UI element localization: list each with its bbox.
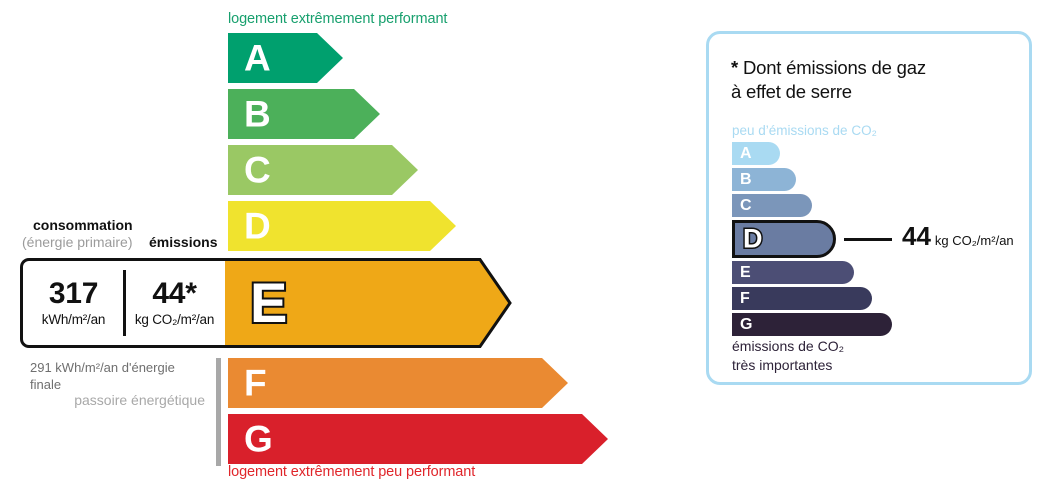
consumption-value-cell: 317 kWh/m²/an bbox=[23, 261, 124, 345]
co2-caption-bottom-line2: très importantes bbox=[732, 356, 844, 375]
label-energie-finale: 291 kWh/m²/an d'énergie finale bbox=[30, 359, 200, 393]
dpe-energy-label: logement extrêmement performant A B C D bbox=[0, 0, 1059, 488]
energy-values-box: 317 kWh/m²/an 44* kg CO₂/m²/an bbox=[20, 258, 225, 348]
co2-title-line2: à effet de serre bbox=[731, 81, 852, 102]
co2-letter-c: C bbox=[740, 198, 752, 214]
label-consommation: consommation bbox=[33, 217, 133, 233]
passoire-divider bbox=[216, 358, 221, 466]
co2-letter-f: F bbox=[740, 291, 750, 307]
emission-unit: kg CO₂/m²/an bbox=[135, 312, 214, 328]
co2-value-unit: kg CO₂/m²/an bbox=[935, 233, 1014, 248]
co2-letter-a: A bbox=[740, 146, 752, 162]
co2-value: 44kg CO₂/m²/an bbox=[902, 223, 1014, 249]
co2-letter-e: E bbox=[740, 265, 751, 281]
energy-row-b: B bbox=[228, 89, 380, 139]
emission-value: 44* bbox=[152, 278, 196, 310]
energy-bar-f bbox=[228, 358, 568, 408]
co2-bar-rows: A B C D 44kg CO₂/m²/an E bbox=[732, 142, 1032, 339]
energy-bar-e bbox=[222, 258, 512, 348]
co2-row-f: F bbox=[732, 287, 1032, 310]
co2-letter-g: G bbox=[740, 317, 752, 333]
co2-bar-g bbox=[732, 313, 892, 336]
energy-bar-a bbox=[228, 33, 343, 83]
co2-letter-b: B bbox=[740, 172, 752, 188]
consumption-value: 317 bbox=[49, 278, 98, 310]
energy-caption-bottom: logement extrêmement peu performant bbox=[228, 464, 475, 480]
co2-emissions-panel: * Dont émissions de gaz à effet de serre… bbox=[706, 31, 1032, 385]
co2-value-number: 44 bbox=[902, 221, 931, 251]
energy-bar-d bbox=[228, 201, 456, 251]
co2-letter-d: D bbox=[743, 226, 763, 253]
co2-row-selected-d: D 44kg CO₂/m²/an bbox=[732, 220, 1032, 258]
label-energie-primaire: (énergie primaire) bbox=[22, 234, 132, 250]
consumption-unit: kWh/m²/an bbox=[42, 312, 105, 328]
co2-row-c: C bbox=[732, 194, 1032, 217]
label-passoire-energetique: passoire énergétique bbox=[60, 391, 205, 410]
energy-performance-panel: logement extrêmement performant A B C D bbox=[0, 0, 660, 488]
energy-row-g: G bbox=[228, 414, 608, 464]
energy-bar-g bbox=[228, 414, 608, 464]
energy-row-a: A bbox=[228, 33, 343, 83]
co2-caption-bottom-line1: émissions de CO₂ bbox=[732, 337, 844, 356]
energy-row-f: F bbox=[228, 358, 568, 408]
co2-bar-f bbox=[732, 287, 872, 310]
co2-caption-top: peu d’émissions de CO₂ bbox=[732, 123, 877, 138]
co2-row-e: E bbox=[732, 261, 1032, 284]
label-emissions: émissions bbox=[149, 234, 217, 250]
energy-row-c: C bbox=[228, 145, 418, 195]
energy-bar-b bbox=[228, 89, 380, 139]
co2-caption-bottom: émissions de CO₂ très importantes bbox=[732, 337, 844, 374]
co2-leader-line bbox=[844, 238, 892, 241]
co2-title-line1: Dont émissions de gaz bbox=[738, 57, 926, 78]
energy-row-d: D bbox=[228, 201, 456, 251]
co2-panel-title: * Dont émissions de gaz à effet de serre bbox=[731, 56, 926, 104]
asterisk-icon: * bbox=[731, 57, 738, 78]
energy-bar-e-wrap: E bbox=[222, 258, 512, 348]
co2-row-g: G bbox=[732, 313, 1032, 336]
co2-row-a: A bbox=[732, 142, 1032, 165]
emission-value-cell: 44* kg CO₂/m²/an bbox=[124, 261, 225, 345]
energy-bar-c bbox=[228, 145, 418, 195]
co2-row-b: B bbox=[732, 168, 1032, 191]
